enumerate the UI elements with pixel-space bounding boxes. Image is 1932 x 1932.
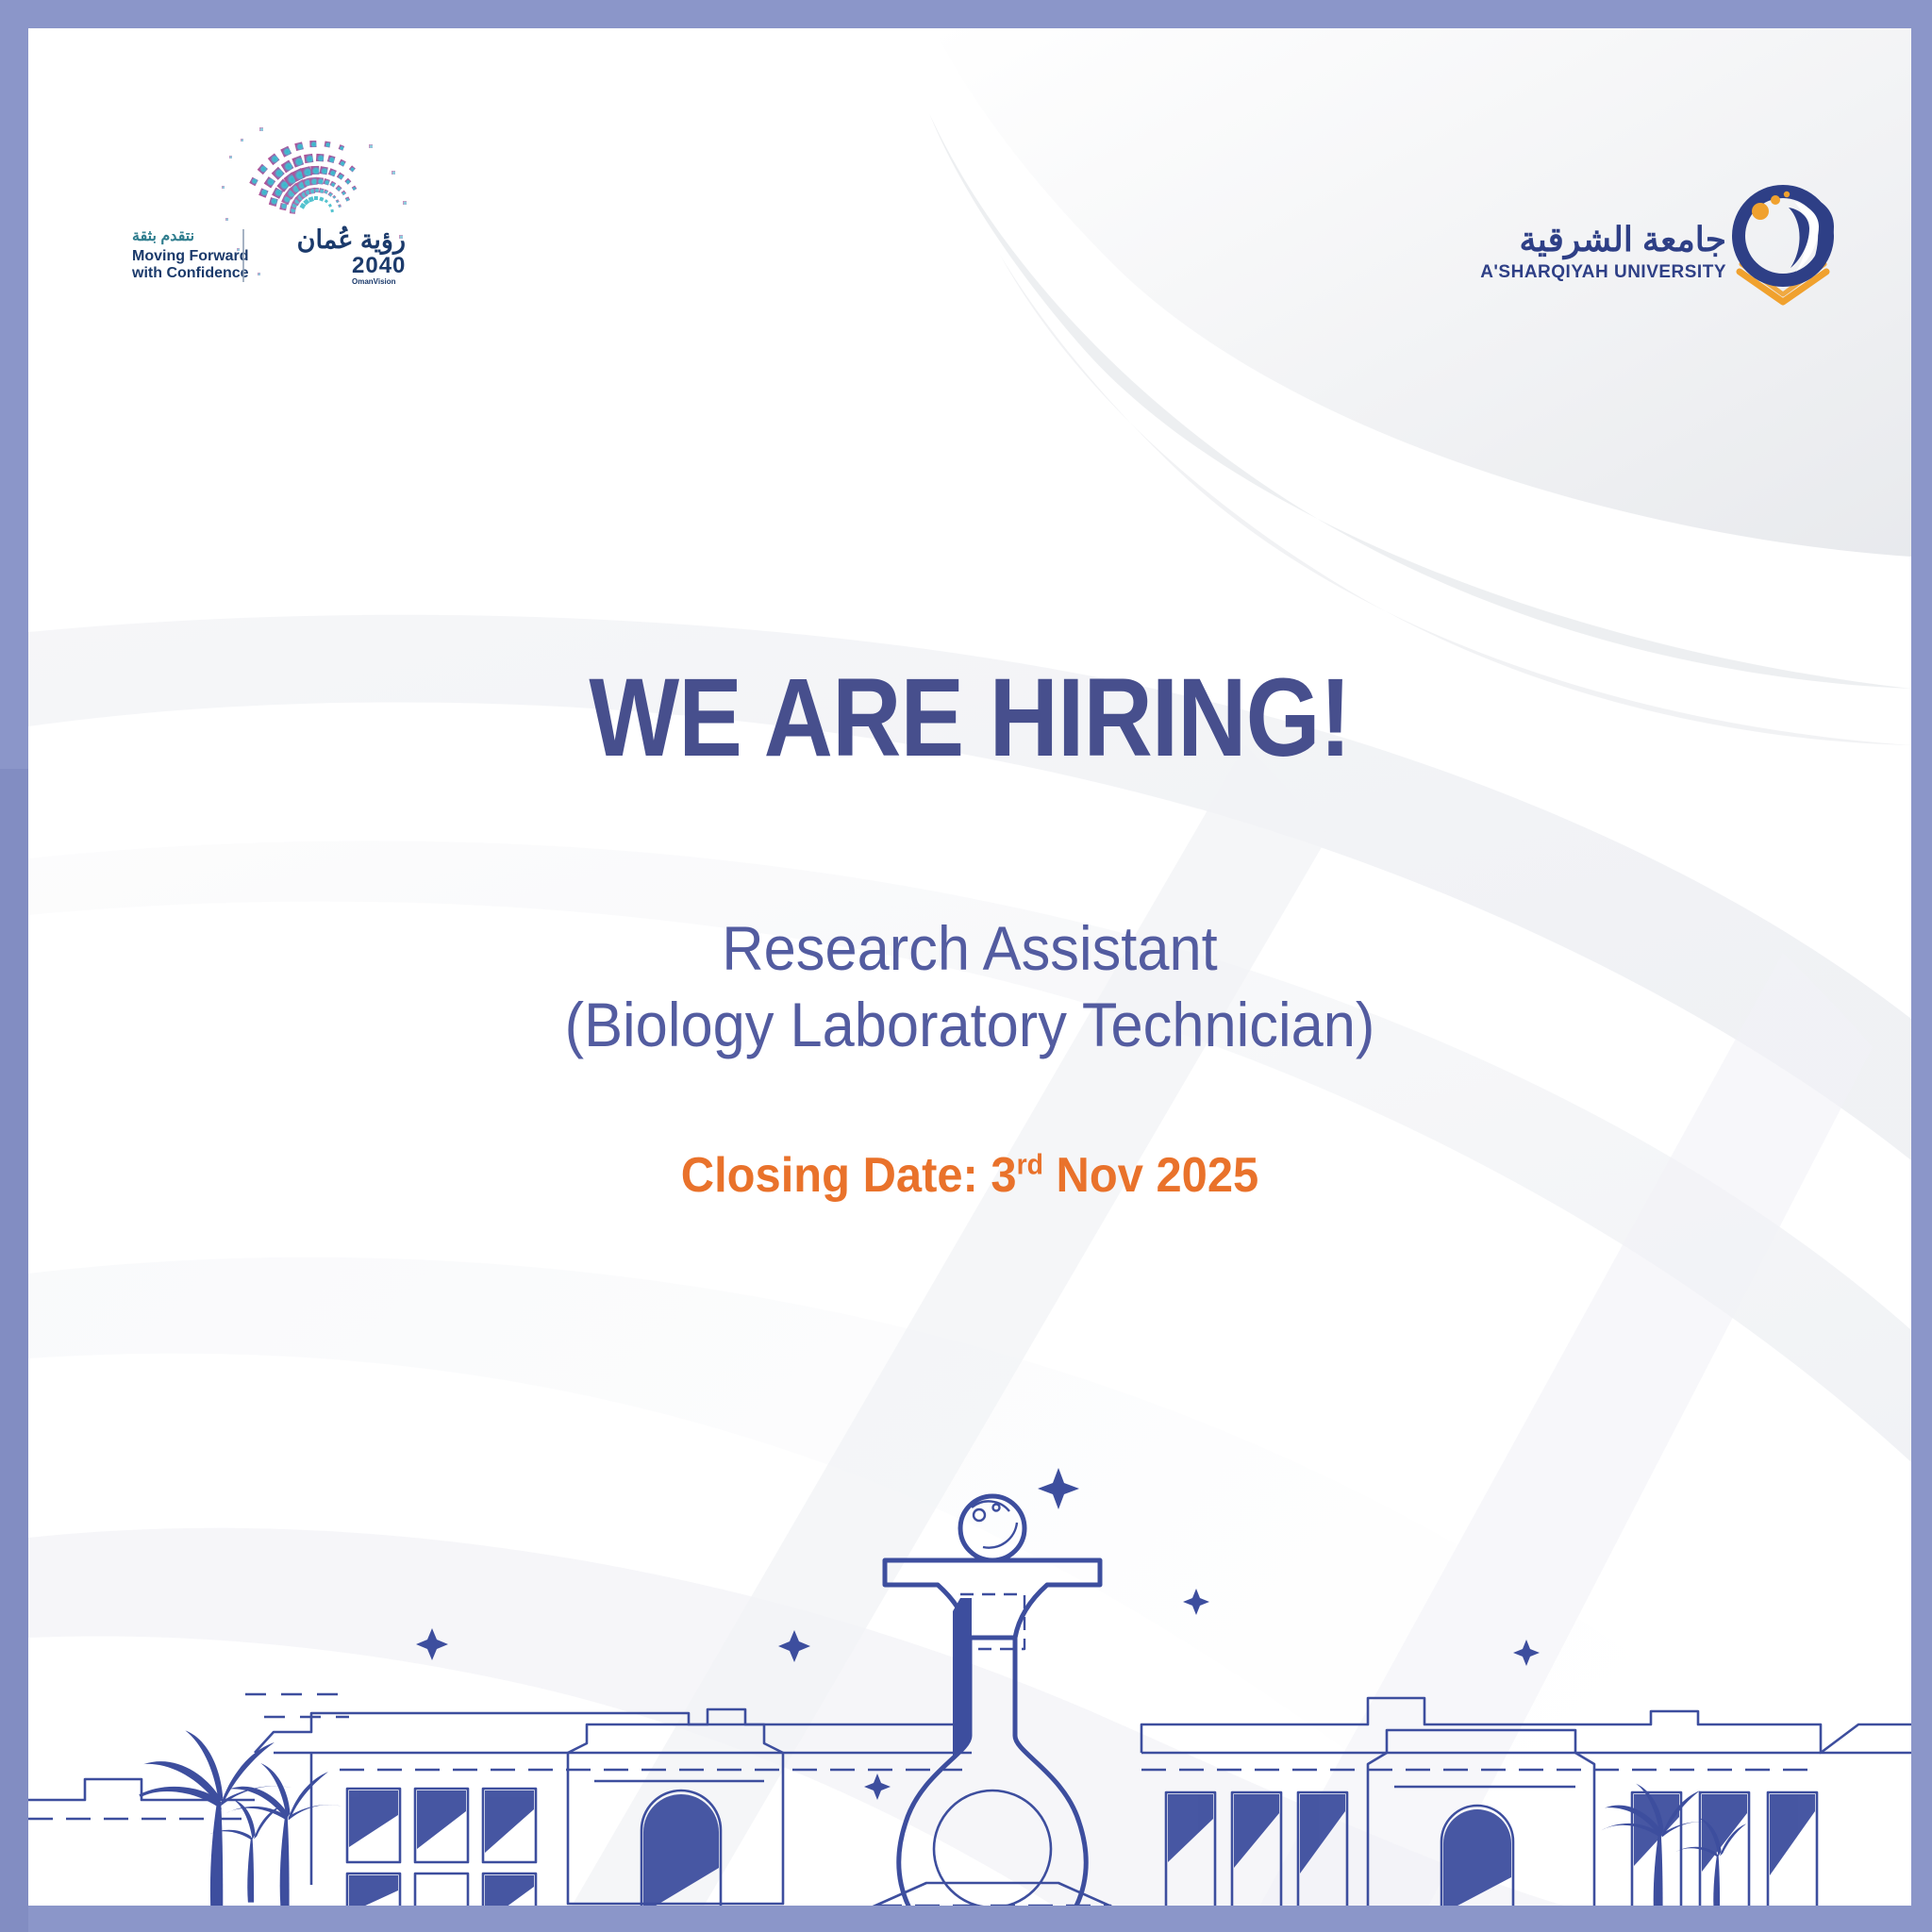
monument-tower — [858, 1496, 1126, 1932]
page-title: WE ARE HIRING! — [160, 662, 1780, 774]
asu-arabic-name: جامعة الشرقية — [1520, 220, 1727, 260]
monument-shading — [953, 1598, 972, 1758]
oman-vision-tagline: نتقدم بثقة Moving Forward with Confidenc… — [131, 228, 249, 282]
oman-vision-2040-logo: رؤية عُمان 2040 OmanVision نتقدم بثقة Mo… — [123, 127, 425, 344]
oman-vision-wordmark: رؤية عُمان 2040 OmanVision — [297, 225, 407, 286]
closing-date-day: 3 — [991, 1148, 1016, 1203]
closing-date: Closing Date: 3rd Nov 2025 — [85, 1147, 1855, 1204]
oman-vision-english-name: OmanVision — [352, 277, 396, 286]
ground-band — [28, 1906, 1911, 1932]
oman-vision-arabic-tagline: نتقدم بثقة — [132, 228, 194, 245]
oman-vision-tagline-line1: Moving Forward — [132, 248, 249, 264]
closing-date-month-year: Nov 2025 — [1057, 1148, 1259, 1203]
hiring-poster: رؤية عُمان 2040 OmanVision نتقدم بثقة Mo… — [0, 0, 1932, 1932]
oman-vision-year: 2040 — [352, 253, 406, 278]
frame-shade-overlay — [0, 769, 28, 1932]
closing-date-day-suffix: rd — [1017, 1150, 1043, 1181]
oman-vision-arabic-name: رؤية عُمان — [297, 225, 406, 256]
poster-card: رؤية عُمان 2040 OmanVision نتقدم بثقة Mo… — [28, 28, 1911, 1932]
job-title-line2: (Biology Laboratory Technician) — [94, 987, 1845, 1063]
job-title-block: Research Assistant (Biology Laboratory T… — [94, 910, 1845, 1062]
closing-date-label: Closing Date: — [681, 1148, 978, 1203]
asu-english-name: A'SHARQIYAH UNIVERSITY — [1480, 262, 1726, 282]
job-title-line1: Research Assistant — [94, 910, 1845, 987]
oman-vision-tagline-line2: with Confidence — [131, 265, 249, 281]
sparkle-stars — [416, 1468, 1540, 1800]
asu-swirl-emblem — [1732, 185, 1834, 287]
asharqiyah-university-logo: جامعة الشرقية A'SHARQIYAH UNIVERSITY — [1470, 160, 1847, 325]
campus-skyline-illustration — [28, 1441, 1911, 1932]
